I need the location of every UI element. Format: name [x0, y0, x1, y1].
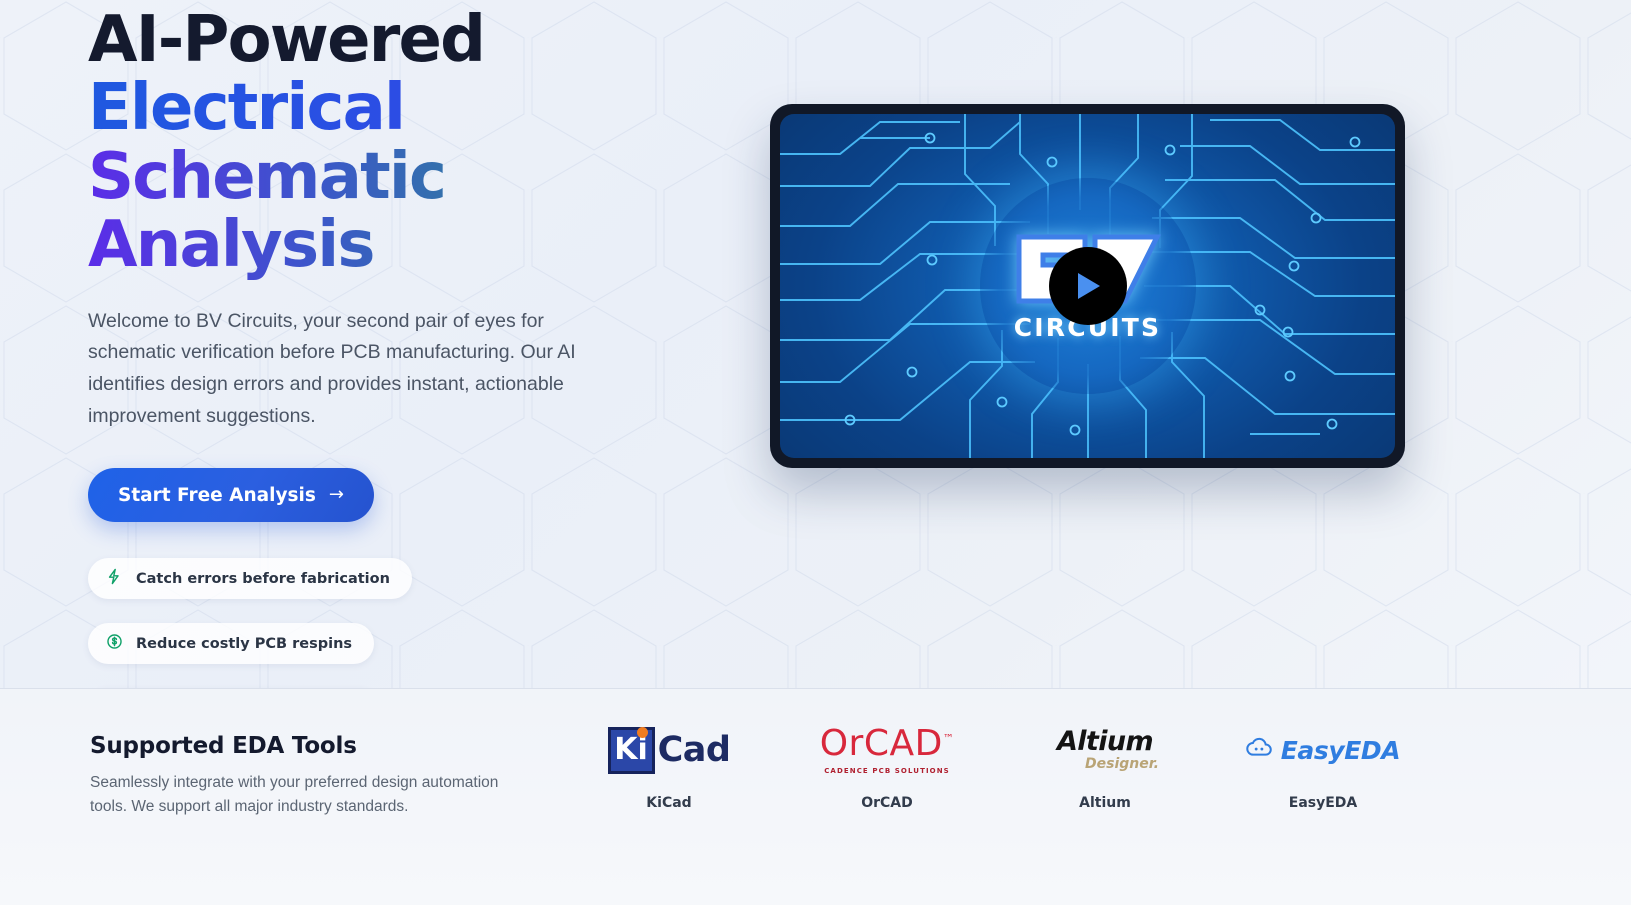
eda-tool-easyeda[interactable]: EasyEDA EasyEDA: [1214, 713, 1432, 811]
feature-pill-label: Reduce costly PCB respins: [136, 636, 352, 652]
eda-tool-label: OrCAD: [861, 795, 913, 811]
page-title: AI-Powered Electrical Schematic Analysis: [88, 6, 748, 280]
eda-tool-label: EasyEDA: [1289, 795, 1358, 811]
video-preview: CIRCUITS: [780, 114, 1395, 458]
feature-pill-catch-errors: Catch errors before fabrication: [88, 558, 412, 599]
play-icon: [1073, 270, 1103, 302]
eda-section-title: Supported EDA Tools: [90, 733, 530, 759]
easyeda-mark-text: EasyEDA: [1281, 736, 1401, 765]
start-free-analysis-button[interactable]: Start Free Analysis →: [88, 468, 374, 522]
kicad-logo-icon: Ki Cad: [608, 713, 731, 787]
play-button[interactable]: [1049, 247, 1127, 325]
lightning-icon: [106, 568, 123, 589]
hero-section: AI-Powered Electrical Schematic Analysis…: [0, 0, 1631, 688]
eda-copy: Supported EDA Tools Seamlessly integrate…: [90, 733, 530, 818]
easyeda-logo-icon: EasyEDA: [1246, 713, 1401, 787]
eda-tool-label: KiCad: [646, 795, 691, 811]
orcad-tagline: CADENCE PCB SOLUTIONS: [820, 767, 955, 775]
eda-tool-altium[interactable]: Altium Designer. Altium: [996, 713, 1214, 811]
altium-mark-text: Altium: [1051, 728, 1159, 755]
eda-tool-orcad[interactable]: OrCAD™ CADENCE PCB SOLUTIONS OrCAD: [778, 713, 996, 811]
kicad-mark-suffix: Cad: [658, 730, 731, 770]
eda-section-description: Seamlessly integrate with your preferred…: [90, 771, 510, 818]
cloud-icon: [1246, 737, 1273, 763]
feature-pill-list: Catch errors before fabrication Reduce c…: [88, 558, 628, 688]
kicad-orange-dot-icon: [637, 727, 648, 738]
supported-eda-tools-section: Supported EDA Tools Seamlessly integrate…: [0, 688, 1631, 905]
altium-logo-icon: Altium Designer.: [1051, 713, 1159, 787]
feature-pill-label: Catch errors before fabrication: [136, 571, 390, 587]
cta-label: Start Free Analysis: [118, 485, 316, 506]
headline-line-1: AI-Powered: [88, 6, 748, 74]
video-thumbnail-card[interactable]: CIRCUITS: [770, 104, 1405, 468]
eda-tool-logo-list: Ki Cad KiCad OrCAD™ CADENCE PCB SOLUTION…: [560, 713, 1560, 811]
altium-mark-suffix: Designer.: [1085, 756, 1159, 772]
trademark-icon: ™: [943, 732, 955, 745]
hero-paragraph: Welcome to BV Circuits, your second pair…: [88, 306, 633, 432]
eda-tool-label: Altium: [1079, 795, 1131, 811]
feature-pill-reduce-respins: Reduce costly PCB respins: [88, 623, 374, 664]
arrow-right-icon: →: [329, 486, 344, 504]
orcad-logo-icon: OrCAD™ CADENCE PCB SOLUTIONS: [820, 713, 955, 787]
dollar-circle-icon: [106, 633, 123, 654]
headline-line-3: Schematic Analysis: [88, 143, 748, 280]
kicad-mark-text: Ki: [614, 735, 648, 765]
headline-line-2: Electrical: [88, 74, 748, 142]
orcad-mark-text: OrCAD: [820, 723, 943, 764]
hero-copy: AI-Powered Electrical Schematic Analysis…: [88, 6, 748, 688]
eda-tool-kicad[interactable]: Ki Cad KiCad: [560, 713, 778, 811]
